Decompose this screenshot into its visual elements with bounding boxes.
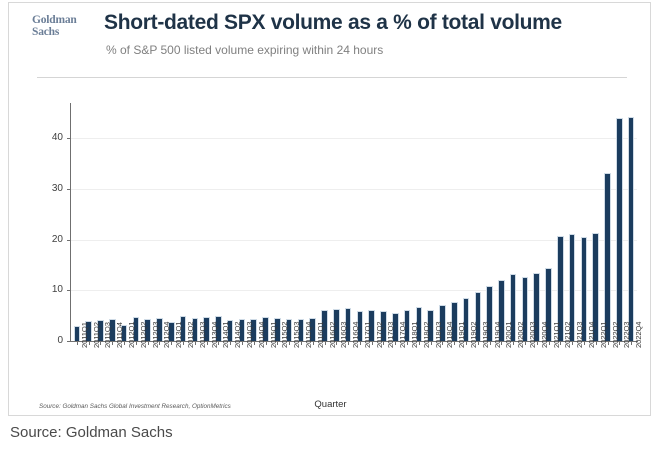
x-tick-mark (454, 341, 455, 345)
x-tick-mark (619, 341, 620, 345)
x-tick-label: 2014Q3 (245, 322, 254, 348)
bar (604, 173, 611, 341)
x-tick-label: 2020Q3 (528, 322, 537, 348)
bar (628, 117, 635, 341)
y-tick-mark (67, 240, 71, 241)
x-tick-mark (301, 341, 302, 345)
x-tick-mark (631, 341, 632, 345)
x-tick-label: 2019Q2 (469, 322, 478, 348)
x-tick-mark (525, 341, 526, 345)
figure-caption: Source: Goldman Sachs (10, 424, 173, 441)
x-tick-label: 2021Q1 (552, 322, 561, 348)
x-tick-mark (289, 341, 290, 345)
x-tick-label: 2017Q2 (375, 322, 384, 348)
x-tick-mark (549, 341, 550, 345)
y-tick-label: 30 (37, 184, 63, 194)
x-tick-label: 2011Q4 (115, 322, 124, 348)
x-tick-mark (277, 341, 278, 345)
x-tick-mark (112, 341, 113, 345)
x-tick-mark (560, 341, 561, 345)
x-tick-mark (360, 341, 361, 345)
x-tick-label: 2011Q3 (103, 322, 112, 348)
x-tick-label: 2016Q1 (316, 322, 325, 348)
x-tick-mark (100, 341, 101, 345)
x-tick-label: 2012Q3 (151, 322, 160, 348)
x-tick-label: 2015Q4 (304, 322, 313, 348)
x-tick-mark (501, 341, 502, 345)
x-tick-label: 2012Q4 (162, 322, 171, 348)
x-tick-label: 2016Q3 (339, 322, 348, 348)
x-tick-label: 2019Q1 (457, 322, 466, 348)
x-tick-mark (407, 341, 408, 345)
gridline (71, 240, 637, 241)
x-tick-label: 2021Q2 (563, 322, 572, 348)
x-tick-label: 2017Q3 (386, 322, 395, 348)
source-note: Source: Goldman Sachs Global Investment … (39, 403, 231, 410)
x-tick-mark (325, 341, 326, 345)
plot-area (71, 108, 637, 341)
x-tick-label: 2019Q3 (481, 322, 490, 348)
x-tick-mark (313, 341, 314, 345)
x-tick-mark (584, 341, 585, 345)
x-tick-mark (77, 341, 78, 345)
x-tick-label: 2018Q1 (410, 322, 419, 348)
x-tick-label: 2022Q4 (634, 322, 643, 348)
x-tick-mark (478, 341, 479, 345)
x-tick-mark (218, 341, 219, 345)
x-tick-mark (537, 341, 538, 345)
x-tick-label: 2015Q3 (292, 322, 301, 348)
x-tick-label: 2022Q3 (622, 322, 631, 348)
x-tick-label: 2012Q1 (127, 322, 136, 348)
x-tick-mark (230, 341, 231, 345)
y-tick-label: 20 (37, 235, 63, 245)
x-tick-label: 2018Q2 (422, 322, 431, 348)
x-tick-label: 2014Q1 (221, 322, 230, 348)
plot-wrapper: % of Total SPX Volume Quarter 0102030402… (9, 3, 651, 416)
x-tick-mark (513, 341, 514, 345)
x-tick-mark (383, 341, 384, 345)
x-tick-mark (395, 341, 396, 345)
x-tick-label: 2021Q3 (575, 322, 584, 348)
x-tick-mark (442, 341, 443, 345)
x-tick-mark (89, 341, 90, 345)
x-tick-label: 2015Q1 (269, 322, 278, 348)
x-tick-mark (183, 341, 184, 345)
x-tick-mark (466, 341, 467, 345)
x-tick-mark (254, 341, 255, 345)
x-tick-mark (195, 341, 196, 345)
y-tick-label: 10 (37, 285, 63, 295)
x-tick-mark (171, 341, 172, 345)
x-tick-mark (431, 341, 432, 345)
x-tick-label: 2022Q2 (611, 322, 620, 348)
x-tick-label: 2019Q4 (493, 322, 502, 348)
y-tick-label: 40 (37, 133, 63, 143)
x-tick-mark (136, 341, 137, 345)
y-tick-mark (67, 290, 71, 291)
gridline (71, 138, 637, 139)
x-tick-label: 2022Q1 (599, 322, 608, 348)
x-tick-label: 2021Q4 (587, 322, 596, 348)
x-tick-mark (419, 341, 420, 345)
chart-card: Goldman Sachs Short-dated SPX volume as … (8, 2, 651, 416)
x-tick-mark (348, 341, 349, 345)
bar (616, 118, 623, 341)
x-tick-mark (372, 341, 373, 345)
x-tick-label: 2016Q2 (328, 322, 337, 348)
gridline (71, 189, 637, 190)
x-tick-label: 2011Q2 (92, 322, 101, 348)
y-tick-mark (67, 341, 71, 342)
x-tick-mark (148, 341, 149, 345)
x-tick-mark (596, 341, 597, 345)
y-tick-label: 0 (37, 336, 63, 346)
x-tick-mark (608, 341, 609, 345)
x-tick-label: 2013Q3 (198, 322, 207, 348)
x-tick-mark (572, 341, 573, 345)
x-tick-label: 2013Q2 (186, 322, 195, 348)
x-tick-mark (242, 341, 243, 345)
gridline (71, 290, 637, 291)
x-tick-mark (207, 341, 208, 345)
x-tick-label: 2015Q2 (280, 322, 289, 348)
x-tick-mark (336, 341, 337, 345)
x-tick-label: 2017Q1 (363, 322, 372, 348)
x-tick-label: 2014Q4 (257, 322, 266, 348)
x-tick-label: 2018Q3 (434, 322, 443, 348)
x-tick-label: 2020Q4 (540, 322, 549, 348)
x-tick-label: 2013Q1 (174, 322, 183, 348)
x-tick-label: 2018Q4 (445, 322, 454, 348)
x-tick-label: 2017Q4 (398, 322, 407, 348)
x-tick-label: 2011Q1 (80, 322, 89, 348)
figure-root: Goldman Sachs Short-dated SPX volume as … (0, 0, 659, 456)
x-tick-label: 2016Q4 (351, 322, 360, 348)
x-tick-label: 2020Q2 (516, 322, 525, 348)
x-tick-mark (490, 341, 491, 345)
x-tick-mark (266, 341, 267, 345)
x-tick-label: 2020Q1 (504, 322, 513, 348)
x-tick-label: 2013Q4 (210, 322, 219, 348)
x-tick-mark (159, 341, 160, 345)
y-tick-mark (67, 189, 71, 190)
x-tick-label: 2014Q2 (233, 322, 242, 348)
x-tick-mark (124, 341, 125, 345)
y-tick-mark (67, 138, 71, 139)
x-tick-label: 2012Q2 (139, 322, 148, 348)
